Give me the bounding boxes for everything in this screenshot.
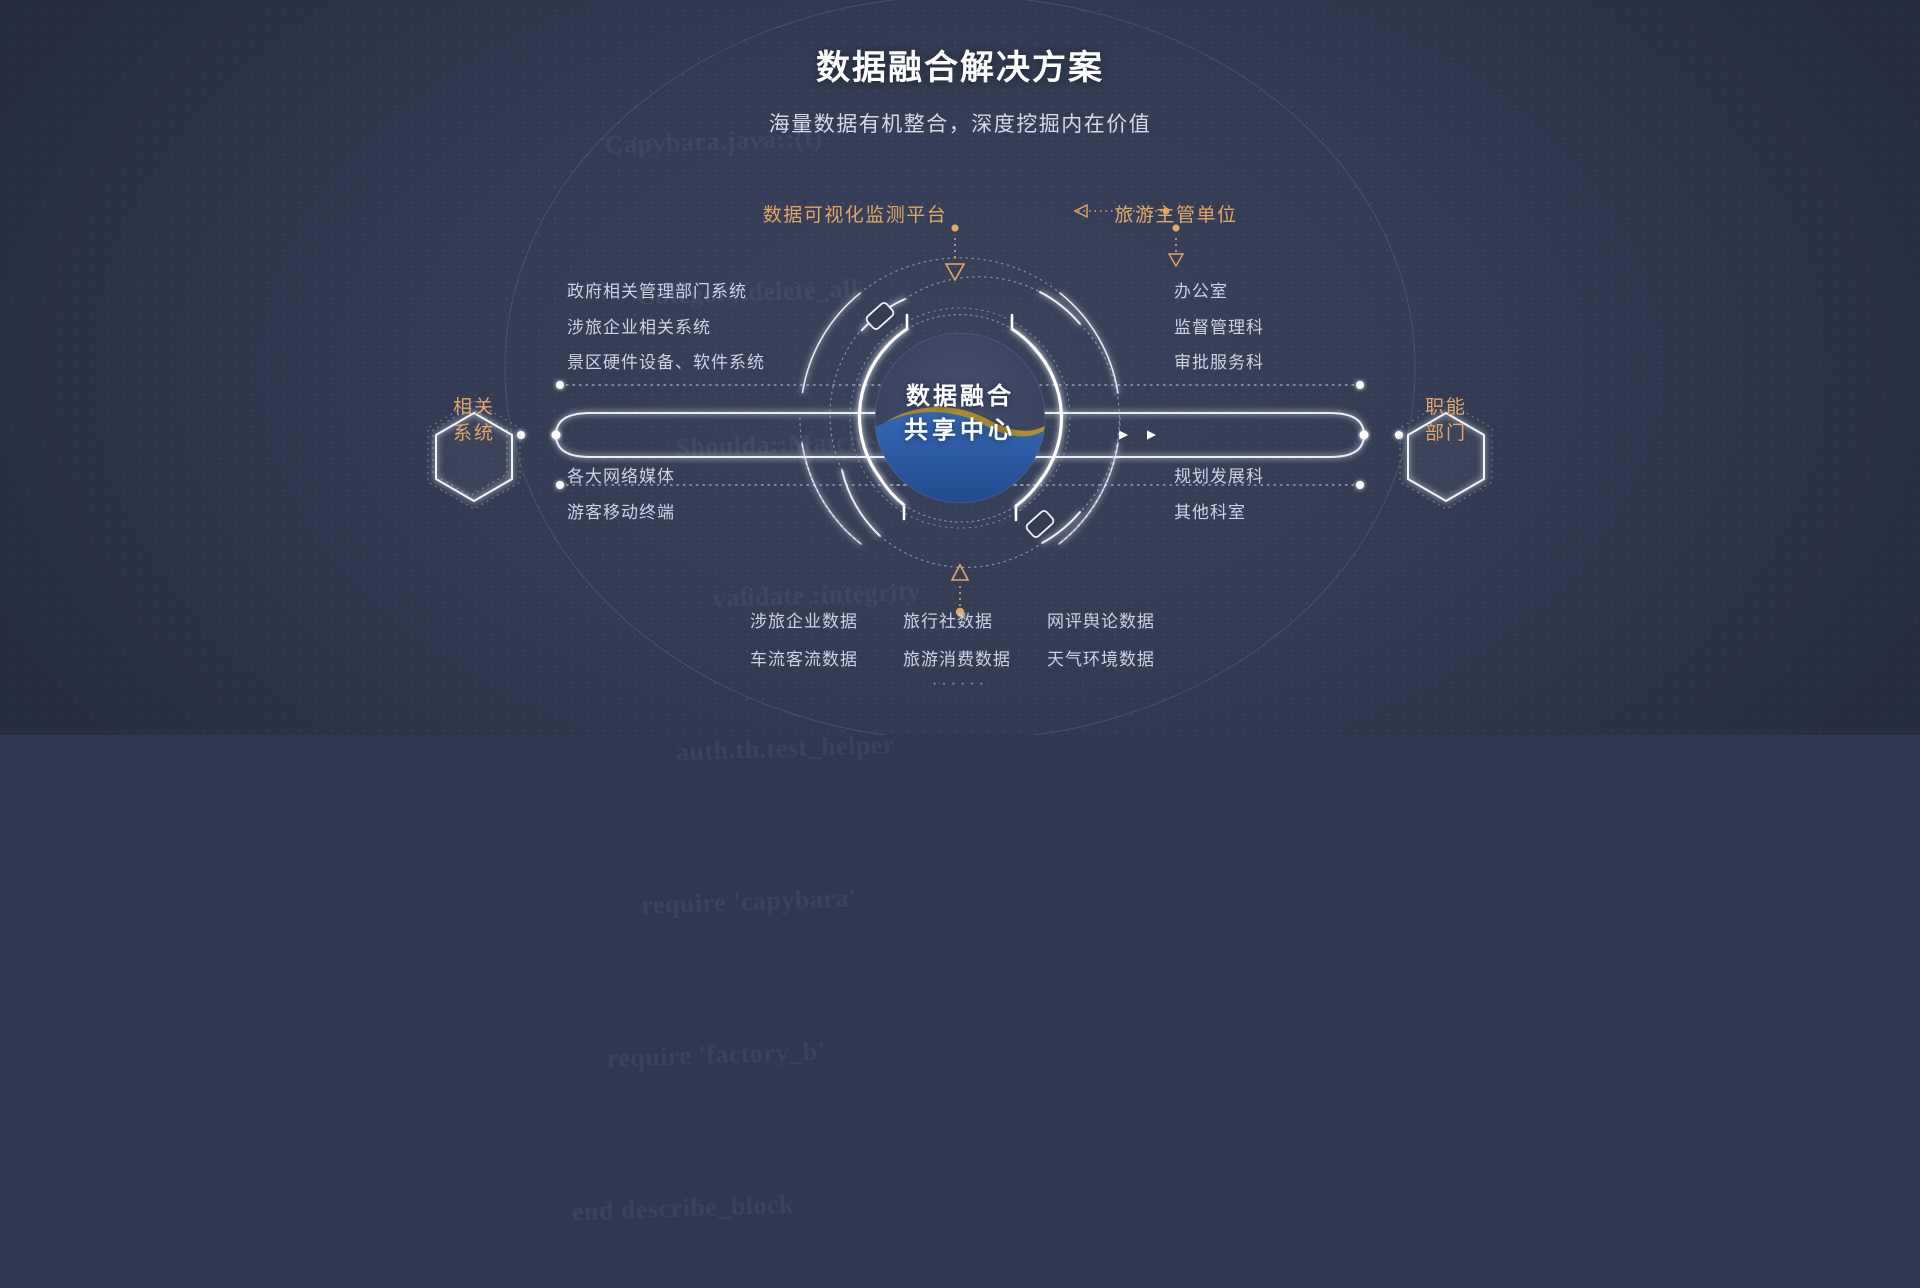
hexagon-left-label[interactable]: 相关 系统	[419, 395, 529, 446]
node-tourism-authority[interactable]: 旅游主管单位	[1114, 200, 1237, 227]
core-line2: 共享中心	[860, 414, 1060, 448]
bottom-label-r2c2[interactable]: 旅游消费数据	[903, 645, 1011, 670]
hexagon-left-line1: 相关	[419, 395, 529, 421]
right-label-upper-3[interactable]: 审批服务科	[1174, 348, 1264, 373]
page-title: 数据融合解决方案	[0, 40, 1920, 89]
left-label-lower-2[interactable]: 游客移动终端	[567, 498, 675, 523]
page-subtitle: 海量数据有机整合，深度挖掘内在价值	[0, 108, 1920, 138]
hexagon-left-line2: 系统	[419, 421, 529, 447]
code-line: require 'capybara'	[640, 862, 1181, 932]
node-data-visualization-platform[interactable]: 数据可视化监测平台	[763, 200, 948, 227]
bottom-label-r2c1[interactable]: 车流客流数据	[750, 645, 858, 670]
hexagon-right-label[interactable]: 职能 部门	[1391, 395, 1501, 446]
code-line: require 'factory_b'	[606, 1014, 1187, 1085]
bottom-ellipsis: ······	[0, 675, 1920, 693]
core-hub-label: 数据融合 共享中心	[860, 380, 1060, 448]
top-marker-platform	[946, 224, 964, 280]
bottom-label-r1c3[interactable]: 网评舆论数据	[1047, 607, 1155, 632]
left-label-upper-3[interactable]: 景区硬件设备、软件系统	[567, 348, 765, 373]
header: 数据融合解决方案 海量数据有机整合，深度挖掘内在价值	[0, 40, 1920, 138]
right-label-upper-2[interactable]: 监督管理科	[1174, 313, 1264, 338]
right-label-lower-2[interactable]: 其他科室	[1174, 498, 1246, 523]
code-line: end describe_block	[571, 1166, 1192, 1238]
left-label-upper-2[interactable]: 涉旅企业相关系统	[567, 313, 711, 338]
top-marker-authority	[1169, 224, 1183, 266]
bottom-label-r1c2[interactable]: 旅行社数据	[903, 607, 993, 632]
right-label-lower-1[interactable]: 规划发展科	[1174, 462, 1264, 487]
bottom-label-r2c3[interactable]: 天气环境数据	[1047, 645, 1155, 670]
left-label-lower-1[interactable]: 各大网络媒体	[567, 462, 675, 487]
core-line1: 数据融合	[860, 380, 1060, 414]
bottom-label-r1c1[interactable]: 涉旅企业数据	[750, 607, 858, 632]
right-label-upper-1[interactable]: 办公室	[1174, 277, 1228, 302]
hexagon-right-line1: 职能	[1391, 395, 1501, 421]
hexagon-right-line2: 部门	[1391, 421, 1501, 447]
left-label-upper-1[interactable]: 政府相关管理部门系统	[567, 277, 747, 302]
